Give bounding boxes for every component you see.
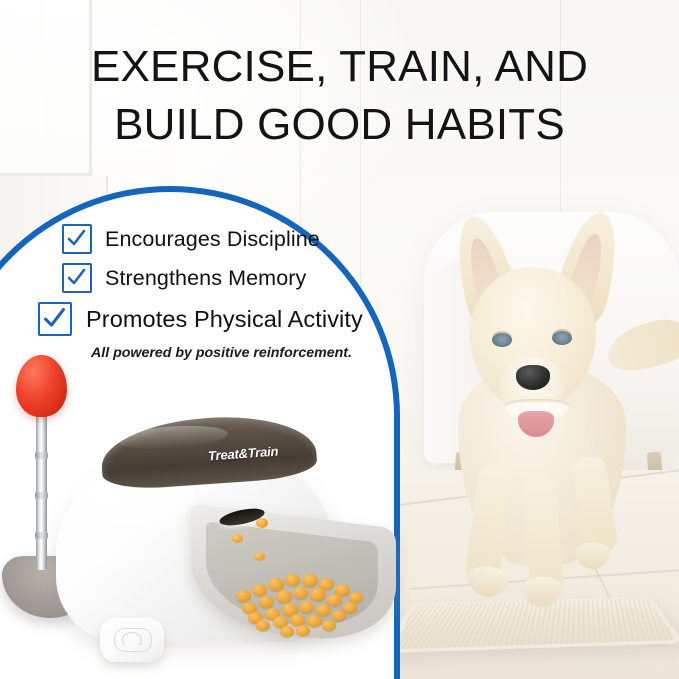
dog-photo: [430, 215, 678, 605]
dog-tail: [602, 312, 679, 379]
dog-paw: [466, 564, 510, 600]
dog-paw: [576, 543, 610, 569]
checklist-subnote: All powered by positive reinforcement.: [36, 345, 381, 361]
dog-eye-left: [492, 333, 512, 347]
target-stick-pole: [36, 395, 47, 570]
check-icon: [62, 263, 92, 293]
dog-eye-right: [552, 331, 572, 345]
checklist-item-label: Promotes Physical Activity: [86, 306, 363, 333]
dog-paw: [522, 577, 562, 607]
headline: EXERCISE, TRAIN, AND BUILD GOOD HABITS: [0, 38, 679, 154]
headline-line-2: BUILD GOOD HABITS: [0, 96, 679, 154]
checklist-item-label: Encourages Discipline: [105, 227, 320, 252]
checklist-item[interactable]: Strengthens Memory: [36, 263, 381, 293]
benefits-checklist: Encourages Discipline Strengthens Memory…: [36, 224, 381, 361]
target-stick-ball: [16, 355, 67, 417]
checklist-item[interactable]: Encourages Discipline: [36, 224, 381, 254]
remote-control: [100, 618, 164, 662]
check-icon: [38, 302, 72, 336]
target-stick-joint: [35, 492, 48, 499]
kibble-pile: [232, 560, 362, 622]
checklist-item-label: Strengthens Memory: [105, 266, 306, 291]
headline-line-1: EXERCISE, TRAIN, AND: [91, 42, 588, 91]
remote-button-arc: [122, 632, 142, 648]
target-stick-joint: [35, 452, 48, 459]
check-icon: [62, 224, 92, 254]
kibble-falling: [256, 518, 268, 528]
checklist-item[interactable]: Promotes Physical Activity: [36, 302, 381, 336]
product-lifestyle-image: EXERCISE, TRAIN, AND BUILD GOOD HABITS E…: [0, 0, 679, 679]
target-stick-joint: [35, 532, 48, 539]
kibble-falling: [232, 534, 243, 543]
